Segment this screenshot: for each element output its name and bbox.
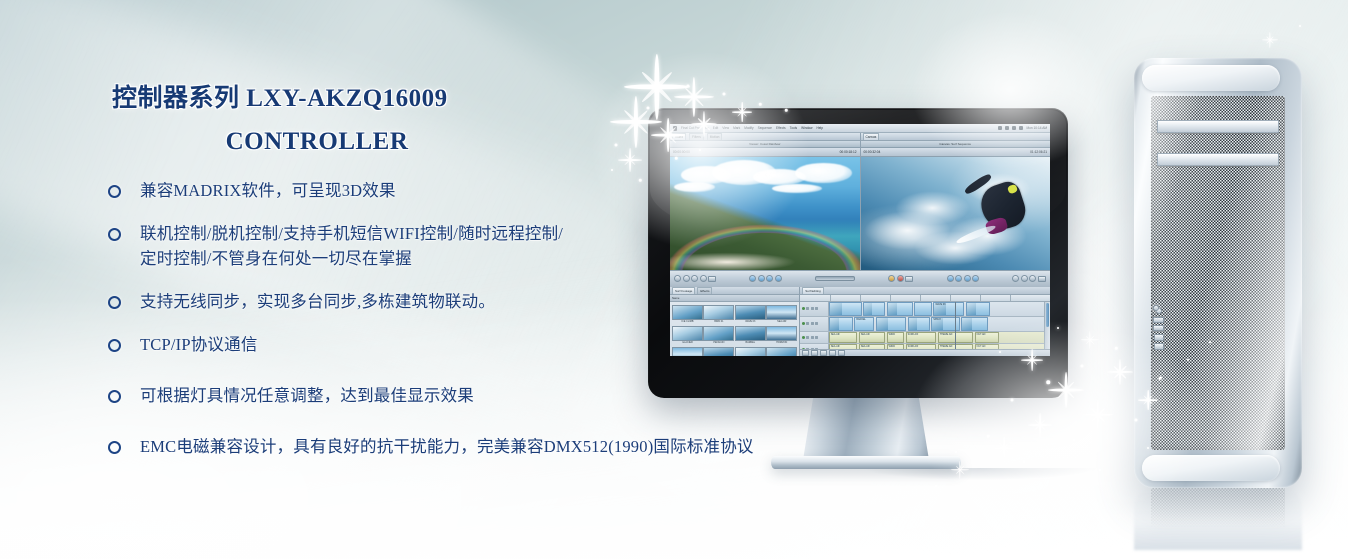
clip-label: SEA.AIF: [830, 345, 857, 348]
tower-perforated-panel: [1151, 96, 1285, 450]
canvas-titlebar: Canvas: Surf Sequence: [861, 141, 1051, 148]
canvas-mark-in-icon[interactable]: [1012, 275, 1019, 282]
tab-motion[interactable]: Motion: [707, 133, 723, 140]
canvas-timecode-left[interactable]: 00:00:32:04: [864, 150, 881, 154]
transport-left-buttons[interactable]: [674, 275, 716, 282]
tab-filters[interactable]: Filters: [689, 133, 704, 140]
ring-bullet-icon: [108, 441, 121, 454]
feature-text: 可根据灯具情况任意调整，达到最佳显示效果: [140, 383, 474, 408]
track-controls-a2[interactable]: [800, 344, 829, 349]
list-item[interactable]: BARREL: [736, 326, 765, 345]
tower-reflection: [1134, 488, 1302, 550]
battery-icon[interactable]: [1019, 126, 1023, 130]
snapping-icon[interactable]: [838, 350, 845, 356]
prev-frame-icon[interactable]: [749, 275, 756, 282]
timeline-clip[interactable]: [914, 302, 931, 316]
add-marker-icon[interactable]: [691, 275, 698, 282]
feature-text: TCP/IP协议通信: [140, 332, 258, 357]
sparkle-star-icon: [1083, 400, 1113, 430]
track-clips-v2[interactable]: WAVE 03: [829, 302, 1050, 317]
clip-label: PENGUIN: [713, 341, 724, 344]
clip-label: SURF.AIF: [907, 345, 936, 348]
bluetooth-icon[interactable]: [998, 126, 1002, 130]
transport-playback-buttons[interactable]: [749, 275, 782, 282]
browser-column-name: Name: [672, 296, 679, 300]
list-item[interactable]: WAVE 03: [736, 305, 765, 324]
sparkle-star-icon: [1028, 413, 1052, 437]
viewer-timecode-right[interactable]: 00:00:18:12: [840, 150, 857, 154]
clip-thumbnail[interactable]: [735, 326, 766, 341]
menu-item-window[interactable]: Window: [801, 125, 812, 131]
linked-selection-icon[interactable]: [829, 350, 836, 356]
tab-canvas[interactable]: Canvas: [863, 133, 880, 140]
clip-thumbnail[interactable]: [703, 305, 734, 320]
timeline-clip[interactable]: [887, 302, 913, 316]
track-controls-v2[interactable]: [800, 302, 829, 316]
firewire-port[interactable]: [1154, 343, 1164, 350]
menubar-status-area[interactable]: Mon 10:14 AM: [998, 126, 1047, 130]
firewire-port[interactable]: [1154, 334, 1164, 341]
menu-item-tools[interactable]: Tools: [790, 125, 797, 131]
timeline-clip[interactable]: [961, 317, 987, 331]
monitor-stand-base: [771, 456, 961, 469]
apple-cinema-display: Final Cut Pro File Edit View Mark Modify…: [648, 108, 1068, 398]
canvas-tabbar[interactable]: Canvas: [861, 133, 1051, 141]
list-item[interactable]: BIRD 01: [704, 305, 733, 324]
list-item[interactable]: PENGUIN: [704, 326, 733, 345]
timeline-vertical-scrollbar[interactable]: [1044, 302, 1050, 349]
record-icon[interactable]: [897, 275, 904, 282]
tower-handle-top[interactable]: [1142, 65, 1280, 91]
clip-label: ICE CLIMB: [681, 320, 693, 323]
timeline-audio-clip[interactable]: SEA.AIF: [829, 332, 858, 343]
next-frame-icon[interactable]: [766, 275, 773, 282]
track-controls-a1[interactable]: [800, 332, 829, 343]
browser-tabbar[interactable]: Surf Footage Effects: [670, 287, 799, 295]
usb-port[interactable]: [1153, 325, 1164, 331]
canvas-timecode-right[interactable]: 01:12:06:21: [1030, 150, 1047, 154]
timeline-playhead[interactable]: [955, 302, 956, 349]
tower-mesh-reflection: [1151, 488, 1285, 528]
clip-thumbnail[interactable]: [766, 326, 797, 341]
transport-mid-buttons[interactable]: [888, 275, 913, 282]
canvas-title: Canvas: Surf Sequence: [939, 142, 971, 146]
canvas-prev-frame-icon[interactable]: [947, 275, 954, 282]
viewer-panel: Video Filters Motion Viewer: Coast Rainb…: [670, 133, 861, 270]
play-icon[interactable]: [758, 275, 765, 282]
keyframe-amber-icon[interactable]: [888, 275, 895, 282]
menu-item-file[interactable]: File: [704, 125, 709, 131]
ring-bullet-icon: [108, 390, 121, 403]
sparkle-star-icon: [1262, 32, 1278, 48]
menu-item-effects[interactable]: Effects: [776, 125, 786, 131]
tab-effects[interactable]: Effects: [697, 287, 712, 294]
clip-label: GLACIER: [682, 341, 693, 344]
feature-text: 支持无线同步，实现多台同步,多栋建筑物联动。: [140, 289, 495, 314]
product-title: 控制器系列 LXY-AKZQ16009: [112, 82, 632, 116]
menu-item-modify[interactable]: Modify: [744, 125, 753, 131]
clip-thumbnail[interactable]: [703, 347, 734, 356]
timeline-audio-clip[interactable]: SURF.AIF: [906, 332, 937, 343]
aerial-coastline-image: [670, 157, 860, 270]
timeline-clip[interactable]: [876, 317, 907, 331]
timeline-panel: Surf Editing: [800, 287, 1050, 356]
canvas-mark-out-icon[interactable]: [1021, 275, 1028, 282]
clip-label: SEA.AIF: [860, 333, 884, 336]
zoom-out-icon[interactable]: [802, 350, 809, 356]
canvas-panel: Canvas Canvas: Surf Sequence 00:00:32:04…: [861, 133, 1051, 270]
headphone-jack-icon[interactable]: [1156, 308, 1162, 314]
timeline-audio-clip[interactable]: OUT.AIF: [975, 332, 999, 343]
ring-bullet-icon: [108, 185, 121, 198]
list-item[interactable]: SEA AIR: [767, 305, 796, 324]
timeline-track-v2[interactable]: WAVE 03: [800, 302, 1050, 317]
clip-label: SURF.AIF: [907, 333, 936, 336]
tower-panel-sheen: [1151, 96, 1285, 450]
viewer-tabbar[interactable]: Video Filters Motion: [670, 133, 860, 141]
sparkle-star-icon: [1107, 359, 1133, 385]
timeline-track-a2[interactable]: SEA.AIF SEA.AIF WIND SURF.AIF THEME.AIF …: [800, 344, 1050, 349]
mark-in-icon[interactable]: [674, 275, 681, 282]
timeline-clip[interactable]: [966, 302, 990, 316]
canvas-timecode-bar: 00:00:32:04 01:12:06:21: [861, 148, 1051, 157]
clip-label: BARREL: [855, 318, 873, 321]
list-item: EMC电磁兼容设计，具有良好的抗干扰能力，完美兼容DMX512(1990)国际标…: [108, 434, 868, 459]
zoom-in-icon[interactable]: [811, 350, 818, 356]
feature-text-line2: 定时控制/不管身在何处一切尽在掌握: [140, 246, 563, 271]
canvas-play-icon[interactable]: [955, 275, 962, 282]
canvas-edit-icon[interactable]: [1038, 276, 1046, 282]
timeline-clip[interactable]: [908, 317, 930, 331]
timeline-audio-clip[interactable]: WIND: [887, 332, 904, 343]
canvas-video-area[interactable]: [861, 157, 1051, 270]
headline-block: 控制器系列 LXY-AKZQ16009 CONTROLLER: [112, 82, 632, 159]
optical-drive-slot[interactable]: [1157, 153, 1279, 166]
scrubber-slider[interactable]: [815, 276, 855, 281]
viewer-title: Viewer: Coast Rainbow: [749, 142, 780, 146]
airport-icon[interactable]: [1005, 126, 1009, 130]
track-controls-v1[interactable]: [800, 317, 829, 331]
tab-surf-editing[interactable]: Surf Editing: [802, 287, 824, 294]
menu-item-mark[interactable]: Mark: [733, 125, 740, 131]
view-mode-icon[interactable]: [905, 276, 913, 282]
timeline-audio-clip[interactable]: SEA.AIF: [859, 344, 885, 349]
viewer-timecode-bar: 00:00:00:00 00:00:18:12: [670, 148, 860, 157]
track-clips-a2[interactable]: SEA.AIF SEA.AIF WIND SURF.AIF THEME.AIF …: [829, 343, 1050, 349]
feature-text: 兼容MADRIX软件，可呈现3D效果: [140, 178, 396, 203]
list-item[interactable]: ICE CLIMB: [673, 305, 702, 324]
browser-thumbnail-grid[interactable]: ICE CLIMB BIRD 01 WAVE 03 SEA AIR GLACIE…: [670, 302, 799, 356]
timeline-statusbar[interactable]: [800, 349, 1050, 356]
clip-thumbnail[interactable]: [766, 305, 797, 320]
usb-port[interactable]: [1153, 317, 1164, 323]
viewer-row: Video Filters Motion Viewer: Coast Rainb…: [670, 133, 1050, 270]
feature-text: 联机控制/脱机控制/支持手机短信WIFI控制/随时远程控制/ 定时控制/不管身在…: [140, 221, 563, 271]
tower-port-cluster[interactable]: [1152, 308, 1165, 350]
product-banner: 控制器系列 LXY-AKZQ16009 CONTROLLER 兼容MADRIX软…: [0, 0, 1348, 559]
timeline-clip[interactable]: WAVE 03: [933, 302, 964, 316]
timeline-audio-clip[interactable]: SEA.AIF: [829, 344, 858, 349]
rainbow-arc: [670, 204, 860, 269]
keyframe-icon[interactable]: [708, 276, 716, 282]
list-item[interactable]: SHORE: [673, 347, 702, 356]
clip-label: SEA.AIF: [830, 333, 857, 336]
list-item[interactable]: HORIZON: [767, 326, 796, 345]
list-item[interactable]: DRIFT: [704, 347, 733, 356]
timeline-audio-clip[interactable]: SEA.AIF: [859, 332, 885, 343]
transport-canvas-buttons[interactable]: [947, 275, 980, 282]
clip-label: BIRD 01: [714, 320, 723, 323]
menu-item-final-cut-pro[interactable]: Final Cut Pro: [681, 125, 700, 131]
final-cut-pro-window: Final Cut Pro File Edit View Mark Modify…: [670, 124, 1050, 356]
menu-item-sequence[interactable]: Sequence: [758, 125, 772, 131]
viewer-titlebar: Viewer: Coast Rainbow: [670, 141, 860, 148]
clip-label: SEA.AIF: [860, 345, 884, 348]
clip-thumbnail[interactable]: [703, 326, 734, 341]
clip-thumbnail[interactable]: [672, 305, 703, 320]
viewer-video-area[interactable]: [670, 157, 860, 270]
timeline-clip[interactable]: [863, 302, 885, 316]
mac-pro-tower: [1134, 58, 1302, 488]
product-subtitle: CONTROLLER: [112, 125, 632, 159]
clip-label: OUT.AIF: [976, 333, 998, 336]
ring-bullet-icon: [108, 339, 121, 352]
timeline-clip[interactable]: [829, 302, 862, 316]
transport-right-buttons[interactable]: [1012, 275, 1046, 282]
clip-label: OUT.AIF: [976, 345, 998, 348]
mark-out-icon[interactable]: [683, 275, 690, 282]
menu-item-help[interactable]: Help: [816, 125, 823, 131]
sparkle-star-icon: [993, 437, 1015, 459]
timeline-clip[interactable]: BARREL: [854, 317, 874, 331]
loop-icon[interactable]: [775, 275, 782, 282]
optical-drive-slot[interactable]: [1157, 120, 1279, 133]
menu-item-view[interactable]: View: [722, 125, 729, 131]
menu-item-edit[interactable]: Edit: [713, 125, 719, 131]
clip-thumbnail[interactable]: [766, 347, 797, 356]
tab-surf-footage[interactable]: Surf Footage: [672, 287, 695, 294]
feature-text: EMC电磁兼容设计，具有良好的抗干扰能力，完美兼容DMX512(1990)国际标…: [140, 434, 754, 459]
browser-column-header[interactable]: Name: [670, 295, 799, 302]
clip-label: BARREL: [746, 341, 756, 344]
timeline-tabbar[interactable]: Surf Editing: [800, 287, 1050, 295]
track-clips-v1[interactable]: BARREL SPRAY: [829, 316, 1050, 332]
timeline-clip[interactable]: [829, 317, 853, 331]
clip-thumbnail[interactable]: [735, 347, 766, 356]
clip-label: SEA AIR: [777, 320, 786, 323]
transport-bar[interactable]: [670, 270, 1050, 287]
clip-thumbnail[interactable]: [735, 305, 766, 320]
match-frame-icon[interactable]: [700, 275, 707, 282]
clip-label: HORIZON: [776, 341, 787, 344]
timeline-audio-clip[interactable]: SURF.AIF: [906, 344, 937, 349]
clip-label: WAVE 03: [745, 320, 755, 323]
monitor-screen: Final Cut Pro File Edit View Mark Modify…: [670, 124, 1050, 356]
lower-panes: Surf Footage Effects Name ICE CLIMB BIRD…: [670, 287, 1050, 356]
clip-label: WIND: [888, 345, 903, 348]
canvas-loop-icon[interactable]: [972, 275, 979, 282]
feature-text-line1: 联机控制/脱机控制/支持手机短信WIFI控制/随时远程控制/: [140, 224, 563, 243]
list-item[interactable]: DIVE: [767, 347, 796, 356]
browser-panel: Surf Footage Effects Name ICE CLIMB BIRD…: [670, 287, 800, 356]
timeline-audio-clip[interactable]: WIND: [887, 344, 904, 349]
sparkle-star-icon: [1081, 331, 1099, 349]
timeline-tracks[interactable]: WAVE 03 BARREL: [800, 302, 1050, 349]
menubar[interactable]: Final Cut Pro File Edit View Mark Modify…: [670, 124, 1050, 133]
canvas-marker-icon[interactable]: [1029, 275, 1036, 282]
monitor-base-shadow: [866, 468, 1096, 480]
volume-icon[interactable]: [1012, 126, 1016, 130]
tab-video[interactable]: Video: [672, 133, 686, 140]
clip-label: WIND: [888, 333, 903, 336]
list-item[interactable]: GLACIER: [673, 326, 702, 345]
list-item[interactable]: SPRAY: [736, 347, 765, 356]
timeline-audio-clip[interactable]: OUT.AIF: [975, 344, 999, 349]
canvas-next-frame-icon[interactable]: [964, 275, 971, 282]
ring-bullet-icon: [108, 296, 121, 309]
monitor-stand-neck: [803, 398, 929, 460]
surfer-in-wave-image: [861, 157, 1051, 270]
tower-handle-bottom[interactable]: [1142, 455, 1280, 481]
clip-thumbnail[interactable]: [672, 347, 703, 356]
menubar-clock[interactable]: Mon 10:14 AM: [1026, 126, 1047, 130]
timeline-ruler[interactable]: [800, 295, 1050, 302]
apple-logo-icon[interactable]: [673, 126, 677, 131]
clip-label: WAVE 03: [934, 303, 963, 306]
track-height-icon[interactable]: [820, 350, 827, 356]
ring-bullet-icon: [108, 228, 121, 241]
clip-thumbnail[interactable]: [672, 326, 703, 341]
timeline-track-v1[interactable]: BARREL SPRAY: [800, 317, 1050, 332]
viewer-timecode-left[interactable]: 00:00:00:00: [673, 150, 690, 154]
